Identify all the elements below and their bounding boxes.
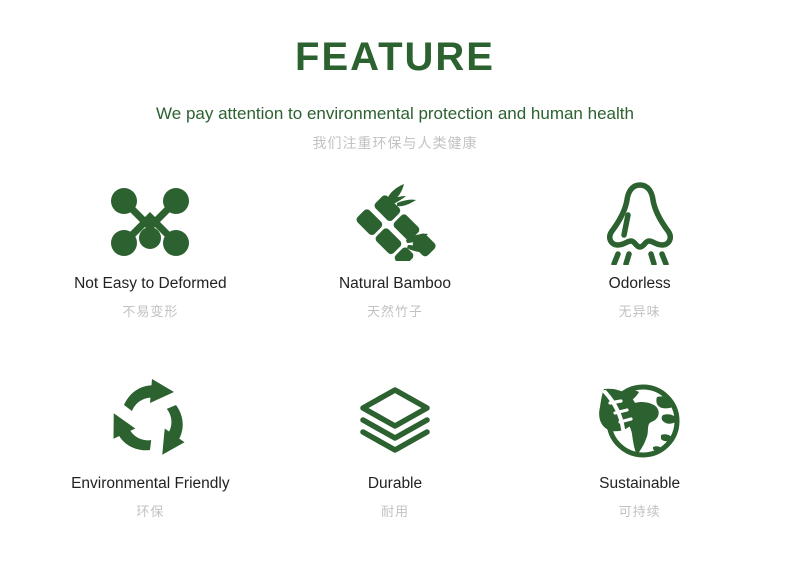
feature-item-odorless: Odorless 无异味 [517, 174, 762, 370]
globe-leaf-icon [599, 370, 681, 470]
feature-item-sustainable: Sustainable 可持续 [517, 370, 762, 566]
page-title: FEATURE [0, 36, 790, 78]
feature-item-not-easy-to-deformed: Not Easy to Deformed 不易变形 [28, 174, 273, 370]
subtitle-english: We pay attention to environmental protec… [0, 104, 790, 124]
feature-item-durable: Durable 耐用 [273, 370, 518, 566]
section-header: FEATURE We pay attention to environmenta… [0, 0, 790, 152]
feature-section: FEATURE We pay attention to environmenta… [0, 0, 790, 576]
recycle-arrows-icon [107, 370, 193, 470]
subtitle-chinese: 我们注重环保与人类健康 [0, 135, 790, 152]
feature-subtitle: 环保 [136, 504, 164, 520]
feature-title: Sustainable [599, 475, 680, 494]
nose-smell-icon [602, 174, 678, 270]
feature-subtitle: 不易变形 [122, 304, 178, 320]
feature-title: Not Easy to Deformed [74, 275, 226, 294]
feature-title: Natural Bamboo [339, 275, 451, 294]
feature-subtitle: 可持续 [619, 504, 661, 520]
feature-item-environmental-friendly: Environmental Friendly 环保 [28, 370, 273, 566]
feature-item-natural-bamboo: Natural Bamboo 天然竹子 [273, 174, 518, 370]
feature-grid: Not Easy to Deformed 不易变形 [0, 174, 790, 566]
feature-subtitle: 无异味 [619, 304, 661, 320]
feature-title: Environmental Friendly [71, 475, 230, 494]
molecule-nodes-icon [108, 174, 192, 270]
bamboo-stalks-icon [354, 174, 436, 270]
feature-title: Odorless [609, 275, 671, 294]
stacked-layers-icon [355, 370, 435, 470]
feature-title: Durable [368, 475, 422, 494]
feature-subtitle: 耐用 [381, 504, 409, 520]
feature-subtitle: 天然竹子 [367, 304, 423, 320]
